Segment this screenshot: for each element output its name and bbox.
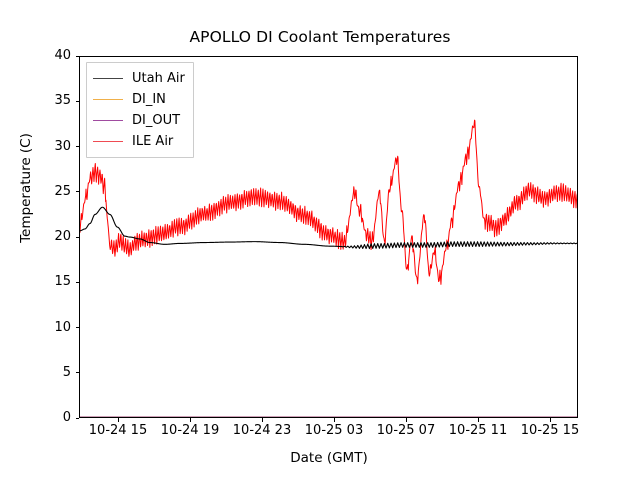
- x-tick-mark: [334, 418, 335, 422]
- y-tick-label: 25: [25, 185, 71, 198]
- y-tick-label: 10: [25, 321, 71, 334]
- y-tick-label: 30: [25, 140, 71, 153]
- y-tick-label: 35: [25, 94, 71, 107]
- legend-swatch-ile-air: [93, 141, 123, 142]
- legend-label-di-in: DI_IN: [132, 93, 166, 106]
- legend-item[interactable]: DI_OUT: [93, 110, 185, 131]
- x-tick-label: 10-25 07: [377, 424, 435, 438]
- x-tick-mark: [262, 418, 263, 422]
- y-axis-ticks: 0510152025303540: [0, 56, 79, 418]
- y-tick-label: 0: [25, 411, 71, 424]
- x-tick-mark: [190, 418, 191, 422]
- y-tick-label: 15: [25, 275, 71, 288]
- y-tick-label: 5: [25, 366, 71, 379]
- legend-label-ile-air: ILE Air: [132, 135, 173, 148]
- legend-swatch-utah-air: [93, 78, 123, 79]
- chart-figure: APOLLO DI Coolant Temperatures Temperatu…: [0, 0, 640, 480]
- x-tick-label: 10-24 23: [233, 424, 291, 438]
- x-tick-label: 10-25 11: [449, 424, 507, 438]
- x-axis-ticks: 10-24 1510-24 1910-24 2310-25 0310-25 07…: [79, 418, 579, 448]
- x-tick-label: 10-24 19: [161, 424, 219, 438]
- legend-item[interactable]: Utah Air: [93, 68, 185, 89]
- x-tick-label: 10-25 15: [521, 424, 579, 438]
- legend-label-di-out: DI_OUT: [132, 114, 180, 127]
- chart-title: APOLLO DI Coolant Temperatures: [0, 28, 640, 46]
- legend-swatch-di-in: [93, 99, 123, 100]
- y-tick-label: 20: [25, 230, 71, 243]
- x-tick-mark: [406, 418, 407, 422]
- legend-swatch-di-out: [93, 120, 123, 121]
- x-tick-mark: [550, 418, 551, 422]
- x-tick-mark: [118, 418, 119, 422]
- legend-item[interactable]: ILE Air: [93, 131, 185, 152]
- x-axis-label: Date (GMT): [79, 450, 579, 466]
- chart-legend: Utah Air DI_IN DI_OUT ILE Air: [86, 62, 194, 158]
- x-tick-mark: [478, 418, 479, 422]
- x-tick-label: 10-24 15: [89, 424, 147, 438]
- y-tick-label: 40: [25, 49, 71, 62]
- x-tick-label: 10-25 03: [305, 424, 363, 438]
- legend-label-utah-air: Utah Air: [132, 72, 185, 85]
- legend-item[interactable]: DI_IN: [93, 89, 185, 110]
